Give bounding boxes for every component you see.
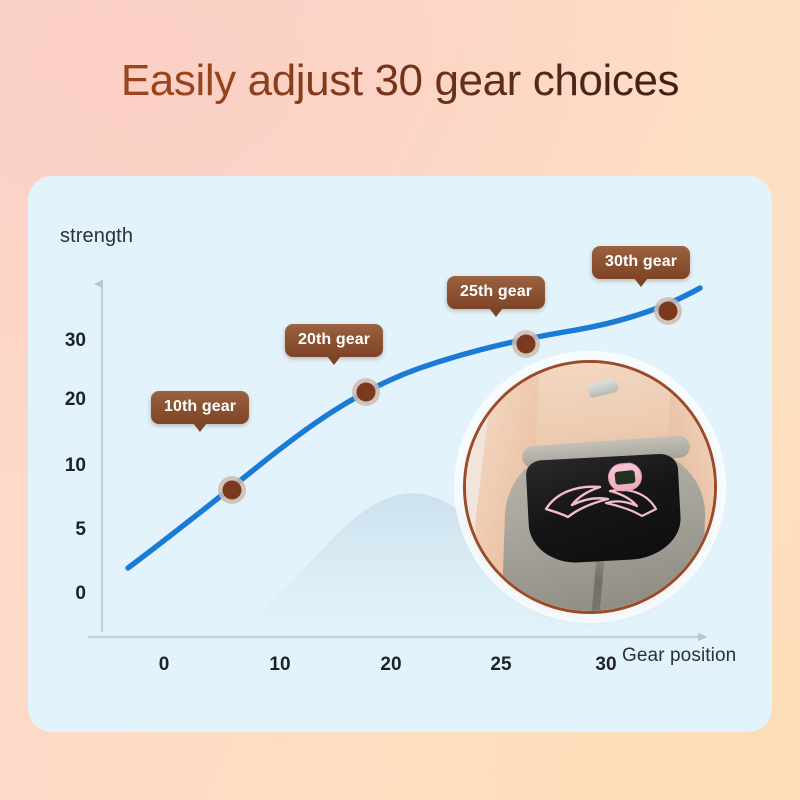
tooltip-10th-gear[interactable]: 10th gear [151,391,249,424]
y-tick-5: 5 [75,519,86,541]
marker-25th-gear[interactable] [512,330,540,358]
product-photo [466,363,714,611]
marker-20th-gear[interactable] [352,378,380,406]
x-tick-10: 10 [269,654,290,676]
y-tick-20: 20 [65,389,86,411]
marker-10th-gear[interactable] [218,476,246,504]
tooltip-30th-gear[interactable]: 30th gear [592,246,690,279]
y-axis-title: strength [60,225,133,248]
tooltip-20th-gear[interactable]: 20th gear [285,324,383,357]
page-title: Easily adjust 30 gear choices [0,56,800,107]
x-tick-20: 20 [380,654,401,676]
chart-card: strength Gear position 30 20 10 5 0 0 10… [28,176,772,732]
x-tick-25: 25 [490,654,511,676]
tooltip-25th-gear[interactable]: 25th gear [447,276,545,309]
marker-30th-gear[interactable] [654,297,682,325]
photo-pod-screen [614,470,635,485]
x-tick-30: 30 [595,654,616,676]
product-photo-circle[interactable] [463,360,717,614]
y-tick-0: 0 [75,583,86,605]
x-tick-0: 0 [159,654,170,676]
y-tick-10: 10 [65,455,86,477]
y-tick-30: 30 [65,330,86,352]
x-axis-title: Gear position [622,645,736,667]
